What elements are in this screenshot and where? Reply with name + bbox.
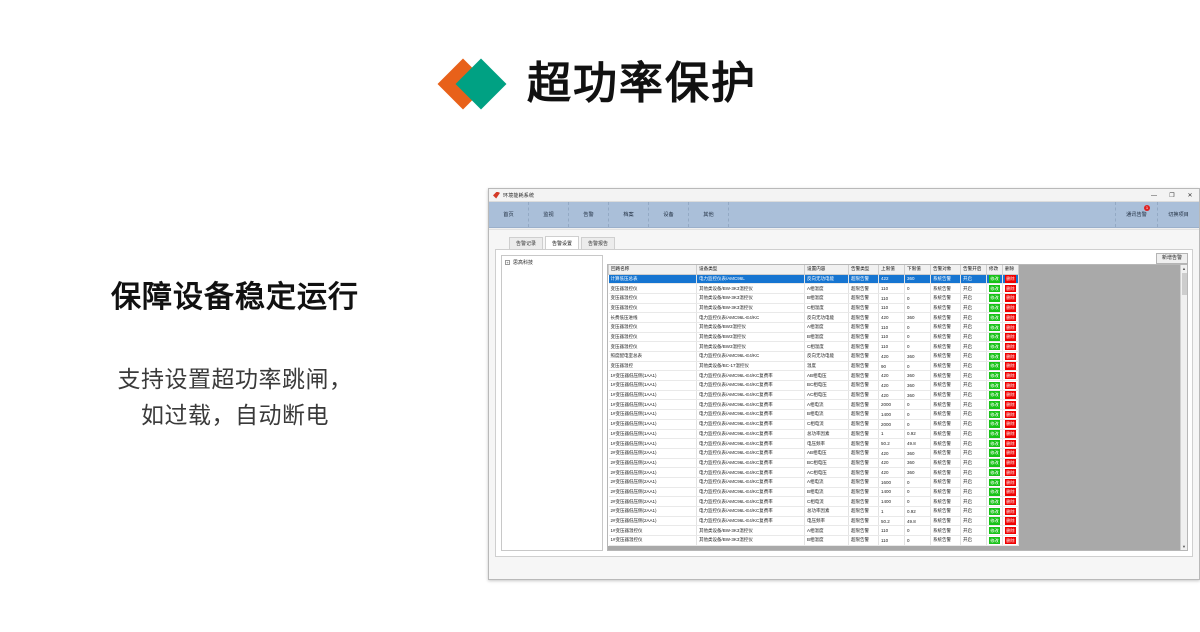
delete-button[interactable]: 删除 — [1005, 314, 1016, 322]
edit-button[interactable]: 修改 — [989, 527, 1000, 535]
cell-delete: 删除 — [1003, 448, 1019, 458]
close-button[interactable]: ✕ — [1181, 189, 1199, 202]
col-header-setting[interactable]: 设置内容 — [805, 265, 849, 274]
cell-alarm-target: 系统告警 — [931, 381, 961, 391]
edit-button[interactable]: 修改 — [989, 275, 1000, 283]
cell-setting: C相电流 — [805, 497, 849, 507]
cell-edit: 修改 — [987, 458, 1003, 468]
cell-alarm-enable[interactable]: 开启 — [961, 361, 987, 371]
delete-button[interactable]: 删除 — [1005, 508, 1016, 516]
cell-alarm-target: 系统告警 — [931, 516, 961, 526]
menu-item-archive[interactable]: 档案 — [609, 202, 649, 227]
window-content: 告警记录 告警设置 告警报告 + 思高科技 新增告警 — [489, 229, 1199, 579]
delete-button[interactable]: 删除 — [1005, 537, 1016, 545]
cell-lower-limit: 360 — [905, 274, 931, 284]
table-row[interactable]: 1#变压器低压侧(1AA1)电力监控仪表/AMC96L-E4/KC复费率总功率因… — [609, 429, 1019, 439]
edit-button[interactable]: 修改 — [989, 479, 1000, 487]
cell-delete: 删除 — [1003, 293, 1019, 303]
cell-alarm-enable[interactable]: 开启 — [961, 410, 987, 420]
cell-alarm-target: 系统告警 — [931, 458, 961, 468]
cell-device-type: 电力监控仪表/AMC96L-E4/KC复费率 — [697, 419, 805, 429]
delete-button[interactable]: 删除 — [1005, 275, 1016, 283]
delete-button[interactable]: 删除 — [1005, 449, 1016, 457]
feature-copy: 保障设备稳定运行 支持设置超功率跳闸， 如过载，自动断电 — [0, 280, 470, 433]
col-header-lower-limit[interactable]: 下限值 — [905, 265, 931, 274]
cell-lower-limit: 0.92 — [905, 507, 931, 517]
cell-edit: 修改 — [987, 536, 1003, 546]
cell-delete: 删除 — [1003, 507, 1019, 517]
cell-device-type: 电力监控仪表/AMC96L-E4/KC复费率 — [697, 516, 805, 526]
table-row[interactable]: 变压器温控仪其他类设备/BW3温控仪B相温度超限告警1100系统告警开启修改删除 — [609, 332, 1019, 342]
col-header-alarm-type[interactable]: 告警类型 — [849, 265, 879, 274]
delete-button[interactable]: 删除 — [1005, 488, 1016, 496]
edit-button[interactable]: 修改 — [989, 517, 1000, 525]
edit-button[interactable]: 修改 — [989, 488, 1000, 496]
table-row[interactable]: 2#变压器低压侧(2AA1)电力监控仪表/AMC96L-E4/KC复费率BC相电… — [609, 458, 1019, 468]
cell-edit: 修改 — [987, 332, 1003, 342]
cell-circuit-name: 变压器温控仪 — [609, 293, 697, 303]
edit-button[interactable]: 修改 — [989, 343, 1000, 351]
cell-edit: 修改 — [987, 439, 1003, 449]
cell-device-type: 电力监控仪表/AMC96L-E4/KC复费率 — [697, 390, 805, 400]
col-header-device-type[interactable]: 设备类型 — [697, 265, 805, 274]
cell-edit: 修改 — [987, 400, 1003, 410]
cell-edit: 修改 — [987, 303, 1003, 313]
cell-setting: B相电流 — [805, 487, 849, 497]
cell-alarm-target: 系统告警 — [931, 293, 961, 303]
col-header-delete[interactable]: 删除 — [1003, 265, 1019, 274]
cell-edit: 修改 — [987, 322, 1003, 332]
table-row[interactable]: 1#变压器低压侧(1AA1)电力监控仪表/AMC96L-E4/KC复费率AB相电… — [609, 371, 1019, 381]
cell-edit: 修改 — [987, 274, 1003, 284]
cell-circuit-name: 长费低压进线 — [609, 313, 697, 323]
delete-button[interactable]: 删除 — [1005, 527, 1016, 535]
table-header-row: 回路名称 设备类型 设置内容 告警类型 上限值 下限值 告警对象 告警开启 修改 — [609, 265, 1019, 274]
cell-circuit-name: 变压器温控仪 — [609, 342, 697, 352]
cell-lower-limit: 0 — [905, 536, 931, 546]
cell-alarm-enable[interactable]: 开启 — [961, 419, 987, 429]
cell-edit: 修改 — [987, 448, 1003, 458]
scroll-up-icon[interactable]: ▲ — [1182, 265, 1186, 272]
cell-edit: 修改 — [987, 352, 1003, 362]
delete-button[interactable]: 删除 — [1005, 517, 1016, 525]
edit-button[interactable]: 修改 — [989, 459, 1000, 467]
page-title: 超功率保护 — [527, 62, 757, 106]
edit-button[interactable]: 修改 — [989, 285, 1000, 293]
grid-vertical-scrollbar[interactable]: ▲ ▼ — [1180, 265, 1187, 550]
cell-alarm-type: 超限告警 — [849, 497, 879, 507]
table-row[interactable]: 2#变压器低压侧(2AA1)电力监控仪表/AMC96L-E4/KC复费率C相电流… — [609, 497, 1019, 507]
cell-edit: 修改 — [987, 419, 1003, 429]
cell-setting: BC相电压 — [805, 381, 849, 391]
page-header: 超功率保护 — [0, 58, 1200, 110]
cell-alarm-enable[interactable]: 开启 — [961, 313, 987, 323]
cell-alarm-enable[interactable]: 开启 — [961, 497, 987, 507]
tab-alarm-records[interactable]: 告警记录 — [509, 237, 543, 249]
cell-alarm-type: 超限告警 — [849, 400, 879, 410]
table-row[interactable]: 1#变压器低压侧(1AA1)电力监控仪表/AMC96L-E4/KC复费率A相电流… — [609, 400, 1019, 410]
cell-alarm-target: 系统告警 — [931, 477, 961, 487]
new-alarm-button[interactable]: 新增告警 — [1156, 253, 1188, 264]
table-row[interactable]: 1#变压器低压侧(1AA1)电力监控仪表/AMC96L-E4/KC复费率BC相电… — [609, 381, 1019, 391]
cell-alarm-type: 超限告警 — [849, 487, 879, 497]
feature-body: 支持设置超功率跳闸， 如过载，自动断电 — [0, 362, 470, 433]
cell-lower-limit: 360 — [905, 458, 931, 468]
cell-setting: B相温度 — [805, 332, 849, 342]
menu-item-home[interactable]: 首页 — [489, 202, 529, 227]
cell-alarm-type: 超限告警 — [849, 390, 879, 400]
delete-button[interactable]: 删除 — [1005, 391, 1016, 399]
tab-alarm-reports[interactable]: 告警报告 — [581, 237, 615, 249]
edit-button[interactable]: 修改 — [989, 294, 1000, 302]
cell-alarm-type: 超限告警 — [849, 342, 879, 352]
cell-circuit-name: 1#变压器温控仪 — [609, 526, 697, 536]
edit-button[interactable]: 修改 — [989, 324, 1000, 332]
cell-alarm-enable[interactable]: 开启 — [961, 332, 987, 342]
col-header-alarm-enable[interactable]: 告警开启 — [961, 265, 987, 274]
edit-button[interactable]: 修改 — [989, 537, 1000, 545]
cell-device-type: 其他类设备/BW-3K3温控仪 — [697, 293, 805, 303]
cell-alarm-enable[interactable]: 开启 — [961, 381, 987, 391]
cell-alarm-type: 超限告警 — [849, 439, 879, 449]
comm-alarm-label: 通讯告警 — [1126, 211, 1147, 218]
application-window: 环境能耗系统 — ❐ ✕ 首页 监视 告警 档案 设备 其他 通讯告警 1 切换… — [488, 188, 1200, 580]
cell-setting: C相温度 — [805, 303, 849, 313]
tab-alarm-settings[interactable]: 告警设置 — [545, 236, 579, 249]
cell-alarm-enable[interactable]: 开启 — [961, 448, 987, 458]
cell-delete: 删除 — [1003, 361, 1019, 371]
comm-alarm-button[interactable]: 通讯告警 1 — [1115, 202, 1157, 227]
cell-alarm-enable[interactable]: 开启 — [961, 516, 987, 526]
table-row[interactable]: 变压器温控其他类设备/BC-17温控仪温度超限告警900系统告警开启修改删除 — [609, 361, 1019, 371]
cell-device-type: 其他类设备/BW3温控仪 — [697, 332, 805, 342]
cell-alarm-target: 系统告警 — [931, 410, 961, 420]
cell-lower-limit: 360 — [905, 381, 931, 391]
cell-alarm-target: 系统告警 — [931, 439, 961, 449]
cell-lower-limit: 360 — [905, 313, 931, 323]
table-row[interactable]: 2#变压器低压侧(2AA1)电力监控仪表/AMC96L-E4/KC复费率A相电流… — [609, 477, 1019, 487]
cell-delete: 删除 — [1003, 390, 1019, 400]
scrollbar-thumb[interactable] — [1182, 273, 1187, 295]
cell-alarm-target: 系统告警 — [931, 352, 961, 362]
table-row[interactable]: 变压器温控仪其他类设备/BW-3K3温控仪A相温度超限告警1100系统告警开启修… — [609, 284, 1019, 294]
delete-button[interactable]: 删除 — [1005, 440, 1016, 448]
delete-button[interactable]: 删除 — [1005, 498, 1016, 506]
edit-button[interactable]: 修改 — [989, 382, 1000, 390]
cell-alarm-type: 超限告警 — [849, 477, 879, 487]
cell-lower-limit: 0 — [905, 322, 931, 332]
edit-button[interactable]: 修改 — [989, 449, 1000, 457]
cell-upper-limit: 420 — [879, 371, 905, 381]
cell-circuit-name: 2#变压器低压侧(2AA1) — [609, 516, 697, 526]
cell-device-type: 电力监控仪表/AMC96L-E4/KC复费率 — [697, 477, 805, 487]
cell-alarm-enable[interactable]: 开启 — [961, 429, 987, 439]
cell-edit: 修改 — [987, 497, 1003, 507]
col-header-edit[interactable]: 修改 — [987, 265, 1003, 274]
cell-delete: 删除 — [1003, 371, 1019, 381]
cell-alarm-type: 超限告警 — [849, 381, 879, 391]
tree-root-node[interactable]: + 思高科技 — [505, 259, 599, 266]
cell-circuit-name: 1#变压器低压侧(1AA1) — [609, 419, 697, 429]
delete-button[interactable]: 删除 — [1005, 382, 1016, 390]
cell-lower-limit: 0 — [905, 487, 931, 497]
cell-device-type: 电力监控仪表/AMC96L-E4/KC复费率 — [697, 458, 805, 468]
cell-setting: 总功率因素 — [805, 429, 849, 439]
cell-edit: 修改 — [987, 293, 1003, 303]
edit-button[interactable]: 修改 — [989, 508, 1000, 516]
cell-device-type: 其他类设备/BW-3K3温控仪 — [697, 536, 805, 546]
cell-edit: 修改 — [987, 468, 1003, 478]
cell-setting: AC相电压 — [805, 390, 849, 400]
table-row[interactable]: 1#变压器温控仪其他类设备/BW-3K3温控仪A相温度超限告警1100系统告警开… — [609, 526, 1019, 536]
cell-edit: 修改 — [987, 516, 1003, 526]
app-logo-icon — [493, 192, 500, 199]
edit-button[interactable]: 修改 — [989, 420, 1000, 428]
minimize-button[interactable]: — — [1145, 189, 1163, 202]
cell-alarm-enable[interactable]: 开启 — [961, 487, 987, 497]
cell-upper-limit: 420 — [879, 468, 905, 478]
cell-circuit-name: 2#变压器低压侧(2AA1) — [609, 477, 697, 487]
delete-button[interactable]: 删除 — [1005, 324, 1016, 332]
cell-alarm-enable[interactable]: 开启 — [961, 458, 987, 468]
grid-toolbar: 新增告警 — [607, 253, 1188, 264]
cell-alarm-enable[interactable]: 开启 — [961, 342, 987, 352]
cell-device-type: 其他类设备/BW3温控仪 — [697, 322, 805, 332]
switch-project-button[interactable]: 切换项目 — [1157, 202, 1199, 227]
table-row[interactable]: 1#变压器低压侧(1AA1)电力监控仪表/AMC96L-E4/KC复费率电压频率… — [609, 439, 1019, 449]
cell-device-type: 电力监控仪表/AMC96L-E4/KC复费率 — [697, 439, 805, 449]
col-header-alarm-target[interactable]: 告警对象 — [931, 265, 961, 274]
cell-alarm-enable[interactable]: 开启 — [961, 293, 987, 303]
cell-setting: A相温度 — [805, 284, 849, 294]
cell-alarm-enable[interactable]: 开启 — [961, 284, 987, 294]
delete-button[interactable]: 删除 — [1005, 469, 1016, 477]
cell-edit: 修改 — [987, 381, 1003, 391]
delete-button[interactable]: 删除 — [1005, 333, 1016, 341]
delete-button[interactable]: 删除 — [1005, 343, 1016, 351]
cell-upper-limit: 110 — [879, 284, 905, 294]
cell-circuit-name: 变压器温控仪 — [609, 303, 697, 313]
cell-alarm-enable[interactable]: 开启 — [961, 400, 987, 410]
table-row[interactable]: 2#变压器低压侧(2AA1)电力监控仪表/AMC96L-E4/KC复费率AB相电… — [609, 448, 1019, 458]
cell-alarm-target: 系统告警 — [931, 390, 961, 400]
cell-device-type: 电力监控仪表/AMC96L-E4/KC复费率 — [697, 371, 805, 381]
delete-button[interactable]: 删除 — [1005, 401, 1016, 409]
cell-delete: 删除 — [1003, 458, 1019, 468]
cell-edit: 修改 — [987, 371, 1003, 381]
feature-heading: 保障设备稳定运行 — [0, 280, 470, 316]
cell-upper-limit: 2000 — [879, 400, 905, 410]
cell-device-type: 电力监控仪表/AMC96L-E4/KC复费率 — [697, 448, 805, 458]
edit-button[interactable]: 修改 — [989, 401, 1000, 409]
cell-delete: 删除 — [1003, 274, 1019, 284]
alarm-grid-pane: 新增告警 回路名称 — [606, 250, 1192, 556]
cell-setting: 电压频率 — [805, 516, 849, 526]
table-row[interactable]: 变压器温控仪其他类设备/BW3温控仪A相温度超限告警1100系统告警开启修改删除 — [609, 322, 1019, 332]
cell-upper-limit: 1400 — [879, 487, 905, 497]
cell-lower-limit: 0 — [905, 526, 931, 536]
cell-circuit-name: 1#变压器低压侧(1AA1) — [609, 429, 697, 439]
cell-alarm-target: 系统告警 — [931, 448, 961, 458]
cell-alarm-enable[interactable]: 开启 — [961, 536, 987, 546]
edit-button[interactable]: 修改 — [989, 411, 1000, 419]
cell-upper-limit: 420 — [879, 352, 905, 362]
table-row[interactable]: 1#变压器低压侧(1AA1)电力监控仪表/AMC96L-E4/KC复费率AC相电… — [609, 390, 1019, 400]
delete-button[interactable]: 删除 — [1005, 362, 1016, 370]
col-header-circuit-name[interactable]: 回路名称 — [609, 265, 697, 274]
table-row[interactable]: 2#变压器低压侧(2AA1)电力监控仪表/AMC96L-E4/KC复费率总功率因… — [609, 507, 1019, 517]
expand-icon[interactable]: + — [505, 260, 510, 265]
cell-device-type: 电力监控仪表/AMC96L — [697, 274, 805, 284]
table-row[interactable]: 变压器温控仪其他类设备/BW-3K3温控仪C相温度超限告警1100系统告警开启修… — [609, 303, 1019, 313]
edit-button[interactable]: 修改 — [989, 353, 1000, 361]
cell-edit: 修改 — [987, 390, 1003, 400]
cell-setting: B相温度 — [805, 536, 849, 546]
cell-delete: 删除 — [1003, 477, 1019, 487]
cell-alarm-type: 超限告警 — [849, 419, 879, 429]
cell-delete: 删除 — [1003, 342, 1019, 352]
cell-edit: 修改 — [987, 361, 1003, 371]
table-row[interactable]: 计算低压总表电力监控仪表/AMC96L反向无功电能超限告警422360系统告警开… — [609, 274, 1019, 284]
cell-delete: 删除 — [1003, 497, 1019, 507]
menu-item-other[interactable]: 其他 — [689, 202, 729, 227]
cell-lower-limit: 0 — [905, 477, 931, 487]
edit-button[interactable]: 修改 — [989, 440, 1000, 448]
table-row[interactable]: 1#变压器低压侧(1AA1)电力监控仪表/AMC96L-E4/KC复费率B相电流… — [609, 410, 1019, 420]
feature-body-line-2: 如过载，自动断电 — [0, 398, 470, 434]
cell-alarm-target: 系统告警 — [931, 536, 961, 546]
delete-button[interactable]: 删除 — [1005, 459, 1016, 467]
alarm-grid-scroller[interactable]: 回路名称 设备类型 设置内容 告警类型 上限值 下限值 告警对象 告警开启 修改 — [608, 265, 1180, 550]
cell-delete: 删除 — [1003, 536, 1019, 546]
cell-alarm-enable[interactable]: 开启 — [961, 390, 987, 400]
delete-button[interactable]: 删除 — [1005, 420, 1016, 428]
cell-alarm-enable[interactable]: 开启 — [961, 303, 987, 313]
col-header-upper-limit[interactable]: 上限值 — [879, 265, 905, 274]
cell-alarm-type: 超限告警 — [849, 448, 879, 458]
delete-button[interactable]: 删除 — [1005, 479, 1016, 487]
cell-alarm-enable[interactable]: 开启 — [961, 371, 987, 381]
delete-button[interactable]: 删除 — [1005, 294, 1016, 302]
cell-alarm-enable[interactable]: 开启 — [961, 468, 987, 478]
cell-alarm-enable[interactable]: 开启 — [961, 274, 987, 284]
table-row[interactable]: 1#变压器温控仪其他类设备/BW-3K3温控仪B相温度超限告警1100系统告警开… — [609, 536, 1019, 546]
cell-alarm-target: 系统告警 — [931, 342, 961, 352]
menu-item-monitor[interactable]: 监视 — [529, 202, 569, 227]
cell-upper-limit: 50.2 — [879, 516, 905, 526]
edit-button[interactable]: 修改 — [989, 430, 1000, 438]
table-row[interactable]: 2#变压器低压侧(2AA1)电力监控仪表/AMC96L-E4/KC复费率AC相电… — [609, 468, 1019, 478]
cell-delete: 删除 — [1003, 439, 1019, 449]
cell-delete: 删除 — [1003, 284, 1019, 294]
cell-delete: 删除 — [1003, 419, 1019, 429]
edit-button[interactable]: 修改 — [989, 304, 1000, 312]
cell-alarm-type: 超限告警 — [849, 284, 879, 294]
cell-alarm-target: 系统告警 — [931, 313, 961, 323]
cell-circuit-name: 2#变压器低压侧(2AA1) — [609, 487, 697, 497]
delete-button[interactable]: 删除 — [1005, 430, 1016, 438]
table-row[interactable]: 2#变压器低压侧(2AA1)电力监控仪表/AMC96L-E4/KC复费率电压频率… — [609, 516, 1019, 526]
cell-delete: 删除 — [1003, 381, 1019, 391]
cell-lower-limit: 360 — [905, 390, 931, 400]
cell-circuit-name: 变压器温控仪 — [609, 284, 697, 294]
cell-circuit-name: 1#变压器低压侧(1AA1) — [609, 381, 697, 391]
cell-edit: 修改 — [987, 507, 1003, 517]
scroll-down-icon[interactable]: ▼ — [1182, 543, 1186, 550]
cell-setting: B相电流 — [805, 410, 849, 420]
cell-alarm-enable[interactable]: 开启 — [961, 477, 987, 487]
cell-device-type: 电力监控仪表/AMC96L-E4/KC复费率 — [697, 400, 805, 410]
cell-alarm-enable[interactable]: 开启 — [961, 322, 987, 332]
table-row[interactable]: 长费低压进线电力监控仪表/AMC96L-E4/KC反向无功电能超限告警42036… — [609, 313, 1019, 323]
cell-delete: 删除 — [1003, 429, 1019, 439]
cell-lower-limit: 0 — [905, 293, 931, 303]
cell-alarm-target: 系统告警 — [931, 419, 961, 429]
cell-setting: 反向无功电能 — [805, 274, 849, 284]
cell-alarm-enable[interactable]: 开启 — [961, 526, 987, 536]
cell-alarm-type: 超限告警 — [849, 352, 879, 362]
table-row[interactable]: 1#变压器低压侧(1AA1)电力监控仪表/AMC96L-E4/KC复费率C相电流… — [609, 419, 1019, 429]
delete-button[interactable]: 删除 — [1005, 304, 1016, 312]
menu-item-device[interactable]: 设备 — [649, 202, 689, 227]
edit-button[interactable]: 修改 — [989, 362, 1000, 370]
cell-lower-limit: 0 — [905, 497, 931, 507]
cell-lower-limit: 0 — [905, 342, 931, 352]
cell-alarm-type: 超限告警 — [849, 526, 879, 536]
cell-alarm-enable[interactable]: 开启 — [961, 352, 987, 362]
cell-edit: 修改 — [987, 477, 1003, 487]
cell-alarm-target: 系统告警 — [931, 429, 961, 439]
edit-button[interactable]: 修改 — [989, 372, 1000, 380]
cell-delete: 删除 — [1003, 526, 1019, 536]
table-row[interactable]: 变压器温控仪其他类设备/BW3温控仪C相温度超限告警1100系统告警开启修改删除 — [609, 342, 1019, 352]
cell-device-type: 电力监控仪表/AMC96L-E4/KC复费率 — [697, 497, 805, 507]
table-row[interactable]: 照度配电室总表电力监控仪表/AMC96L-E4/KC反向无功电能超限告警4203… — [609, 352, 1019, 362]
cell-setting: A相电流 — [805, 400, 849, 410]
sub-tab-bar: 告警记录 告警设置 告警报告 — [509, 236, 1193, 249]
comm-alarm-badge: 1 — [1144, 205, 1150, 211]
cell-edit: 修改 — [987, 429, 1003, 439]
edit-button[interactable]: 修改 — [989, 314, 1000, 322]
cell-setting: 总功率因素 — [805, 507, 849, 517]
cell-alarm-enable[interactable]: 开启 — [961, 507, 987, 517]
cell-delete: 删除 — [1003, 487, 1019, 497]
cell-circuit-name: 2#变压器低压侧(2AA1) — [609, 497, 697, 507]
delete-button[interactable]: 删除 — [1005, 285, 1016, 293]
edit-button[interactable]: 修改 — [989, 333, 1000, 341]
delete-button[interactable]: 删除 — [1005, 353, 1016, 361]
cell-lower-limit: 49.8 — [905, 439, 931, 449]
cell-lower-limit: 0 — [905, 332, 931, 342]
cell-device-type: 其他类设备/BW-3K3温控仪 — [697, 303, 805, 313]
delete-button[interactable]: 删除 — [1005, 372, 1016, 380]
cell-circuit-name: 1#变压器低压侧(1AA1) — [609, 439, 697, 449]
cell-setting: B相温度 — [805, 293, 849, 303]
delete-button[interactable]: 删除 — [1005, 411, 1016, 419]
maximize-button[interactable]: ❐ — [1163, 189, 1181, 202]
edit-button[interactable]: 修改 — [989, 469, 1000, 477]
cell-alarm-enable[interactable]: 开启 — [961, 439, 987, 449]
cell-circuit-name: 1#变压器低压侧(1AA1) — [609, 390, 697, 400]
menu-item-alarm[interactable]: 告警 — [569, 202, 609, 227]
cell-alarm-type: 超限告警 — [849, 516, 879, 526]
edit-button[interactable]: 修改 — [989, 498, 1000, 506]
table-row[interactable]: 变压器温控仪其他类设备/BW-3K3温控仪B相温度超限告警1100系统告警开启修… — [609, 293, 1019, 303]
cell-lower-limit: 360 — [905, 468, 931, 478]
table-row[interactable]: 2#变压器低压侧(2AA1)电力监控仪表/AMC96L-E4/KC复费率B相电流… — [609, 487, 1019, 497]
edit-button[interactable]: 修改 — [989, 391, 1000, 399]
cell-upper-limit: 2000 — [879, 419, 905, 429]
